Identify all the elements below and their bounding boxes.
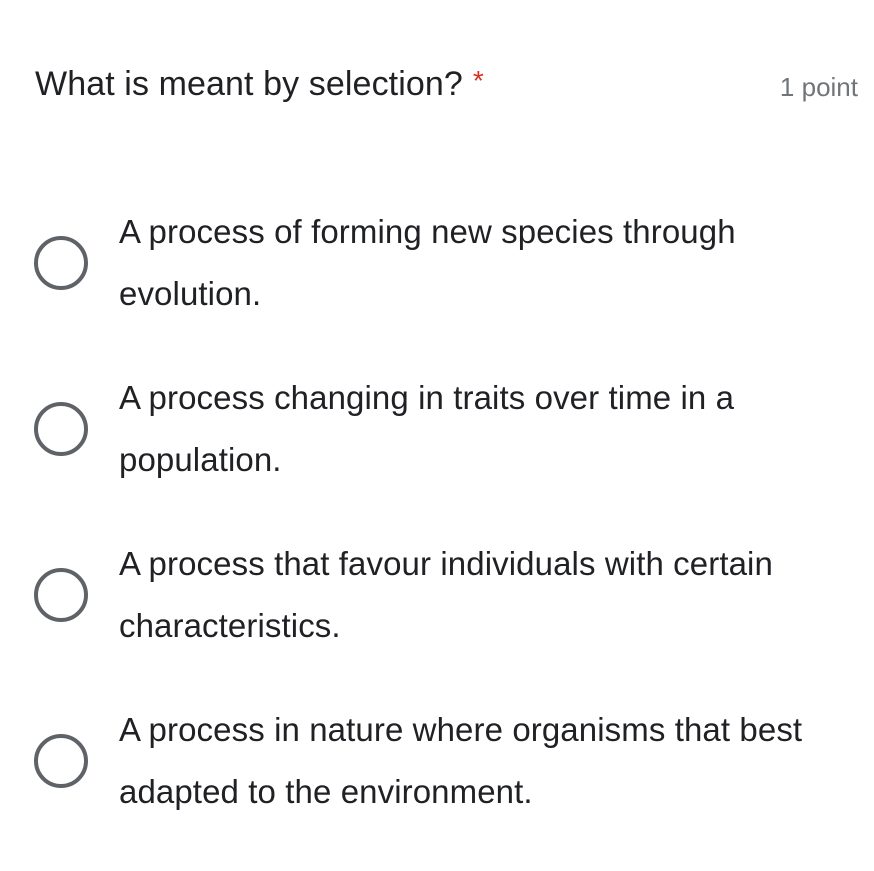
radio-unchecked-icon[interactable]: [34, 734, 88, 788]
question-card: What is meant by selection? * 1 point A …: [0, 0, 874, 871]
radio-unchecked-icon[interactable]: [34, 568, 88, 622]
point-value-label: 1 point: [780, 65, 860, 109]
radio-option-1[interactable]: A process of forming new species through…: [0, 180, 874, 346]
radio-option-label: A process that favour individuals with c…: [119, 533, 850, 657]
radio-option-4[interactable]: A process in nature where organisms that…: [0, 678, 874, 844]
radio-unchecked-icon[interactable]: [34, 402, 88, 456]
radio-option-2[interactable]: A process changing in traits over time i…: [0, 346, 874, 512]
radio-option-label: A process of forming new species through…: [119, 201, 850, 325]
radio-options-group: A process of forming new species through…: [0, 180, 874, 844]
required-asterisk-icon: *: [473, 64, 484, 98]
radio-option-label: A process changing in traits over time i…: [119, 367, 850, 491]
page-title: What is meant by selection?: [35, 62, 463, 106]
radio-option-3[interactable]: A process that favour individuals with c…: [0, 512, 874, 678]
radio-option-label: A process in nature where organisms that…: [119, 699, 850, 823]
question-header: What is meant by selection? * 1 point: [35, 62, 860, 109]
question-title-wrap: What is meant by selection? *: [35, 62, 484, 106]
radio-unchecked-icon[interactable]: [34, 236, 88, 290]
